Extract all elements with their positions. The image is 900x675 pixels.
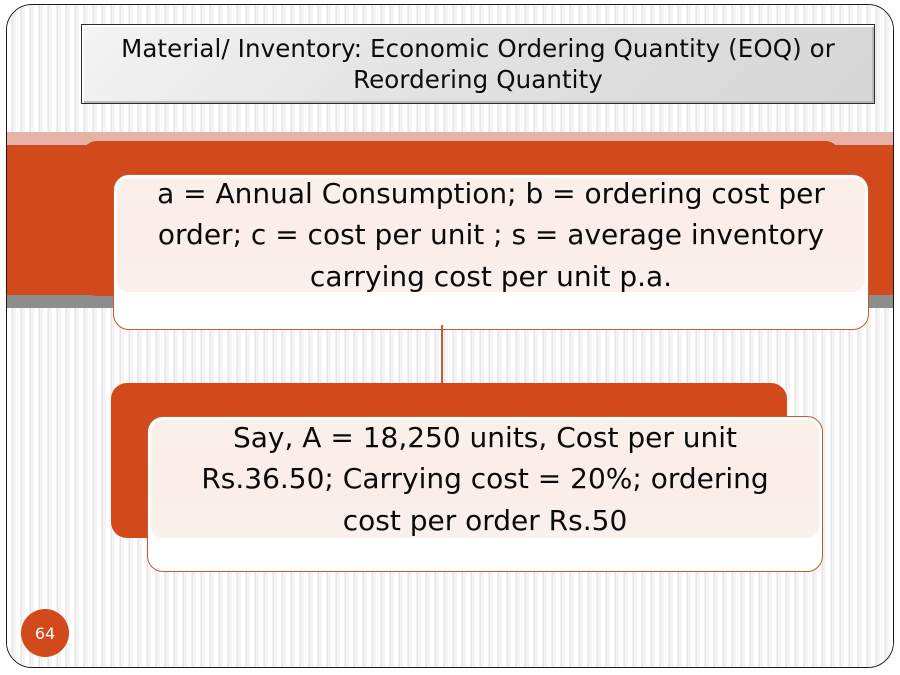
example-card-body: Say, A = 18,250 units, Cost per unit Rs.…: [149, 418, 821, 540]
definitions-card-text: a = Annual Consumption; b = ordering cos…: [135, 173, 847, 296]
slide-title: Material/ Inventory: Economic Ordering Q…: [96, 33, 860, 96]
definitions-card-body: a = Annual Consumption; b = ordering cos…: [115, 176, 867, 294]
example-card-text: Say, A = 18,250 units, Cost per unit Rs.…: [169, 417, 801, 540]
page-number-badge: 64: [21, 609, 69, 657]
example-card: Say, A = 18,250 units, Cost per unit Rs.…: [111, 383, 825, 573]
card-connector-line: [441, 325, 443, 387]
definitions-card: a = Annual Consumption; b = ordering cos…: [81, 141, 871, 331]
slide-canvas: Material/ Inventory: Economic Ordering Q…: [6, 4, 894, 668]
slide-title-box: Material/ Inventory: Economic Ordering Q…: [81, 24, 875, 104]
